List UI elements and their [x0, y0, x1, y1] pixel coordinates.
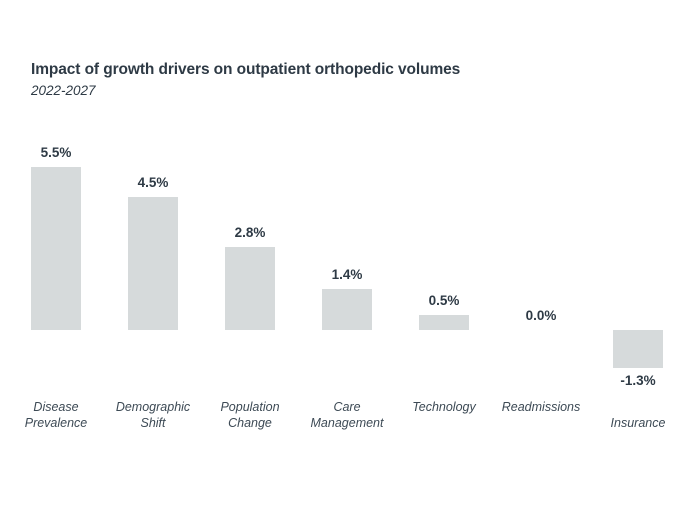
- category-label: Technology: [412, 399, 475, 415]
- category-label: Readmissions: [502, 399, 581, 415]
- category-label: PopulationChange: [220, 399, 279, 431]
- bar-value-label: 4.5%: [138, 175, 169, 190]
- bar-value-label: 0.0%: [526, 308, 557, 323]
- category-label-line: Population: [220, 399, 279, 415]
- bar[interactable]: [128, 197, 178, 330]
- bar-group: 0.0%Readmissions: [493, 0, 590, 526]
- bar[interactable]: [322, 289, 372, 330]
- chart-container: Impact of growth drivers on outpatient o…: [0, 0, 700, 526]
- category-label: DemographicShift: [116, 399, 190, 431]
- bar[interactable]: [225, 247, 275, 330]
- bar-group: 4.5%DemographicShift: [105, 0, 202, 526]
- category-label-line: Shift: [116, 415, 190, 431]
- bar-group: 1.4%CareManagement: [299, 0, 396, 526]
- category-label-line: Insurance: [611, 415, 666, 431]
- category-label-line: Technology: [412, 399, 475, 415]
- category-label-line: Change: [220, 415, 279, 431]
- bar-value-label: 0.5%: [429, 293, 460, 308]
- bar[interactable]: [613, 330, 663, 368]
- bar-value-label: -1.3%: [620, 373, 655, 388]
- category-label-line: Demographic: [116, 399, 190, 415]
- bar[interactable]: [31, 167, 81, 330]
- bar-value-label: 1.4%: [332, 267, 363, 282]
- bar-group: 2.8%PopulationChange: [202, 0, 299, 526]
- category-label-line: Disease: [25, 399, 88, 415]
- plot-area: 5.5%DiseasePrevalence4.5%DemographicShif…: [0, 0, 700, 526]
- bar-group: -1.3%Insurance: [590, 0, 687, 526]
- category-label: DiseasePrevalence: [25, 399, 88, 431]
- category-label: CareManagement: [311, 399, 384, 431]
- category-label-line: Readmissions: [502, 399, 581, 415]
- bar-group: 5.5%DiseasePrevalence: [8, 0, 105, 526]
- category-label-line: Care: [311, 399, 384, 415]
- category-label-line: Prevalence: [25, 415, 88, 431]
- category-label: Insurance: [611, 415, 666, 431]
- bar-group: 0.5%Technology: [396, 0, 493, 526]
- bar-value-label: 5.5%: [41, 145, 72, 160]
- category-label-line: Management: [311, 415, 384, 431]
- bar[interactable]: [419, 315, 469, 330]
- bar-value-label: 2.8%: [235, 225, 266, 240]
